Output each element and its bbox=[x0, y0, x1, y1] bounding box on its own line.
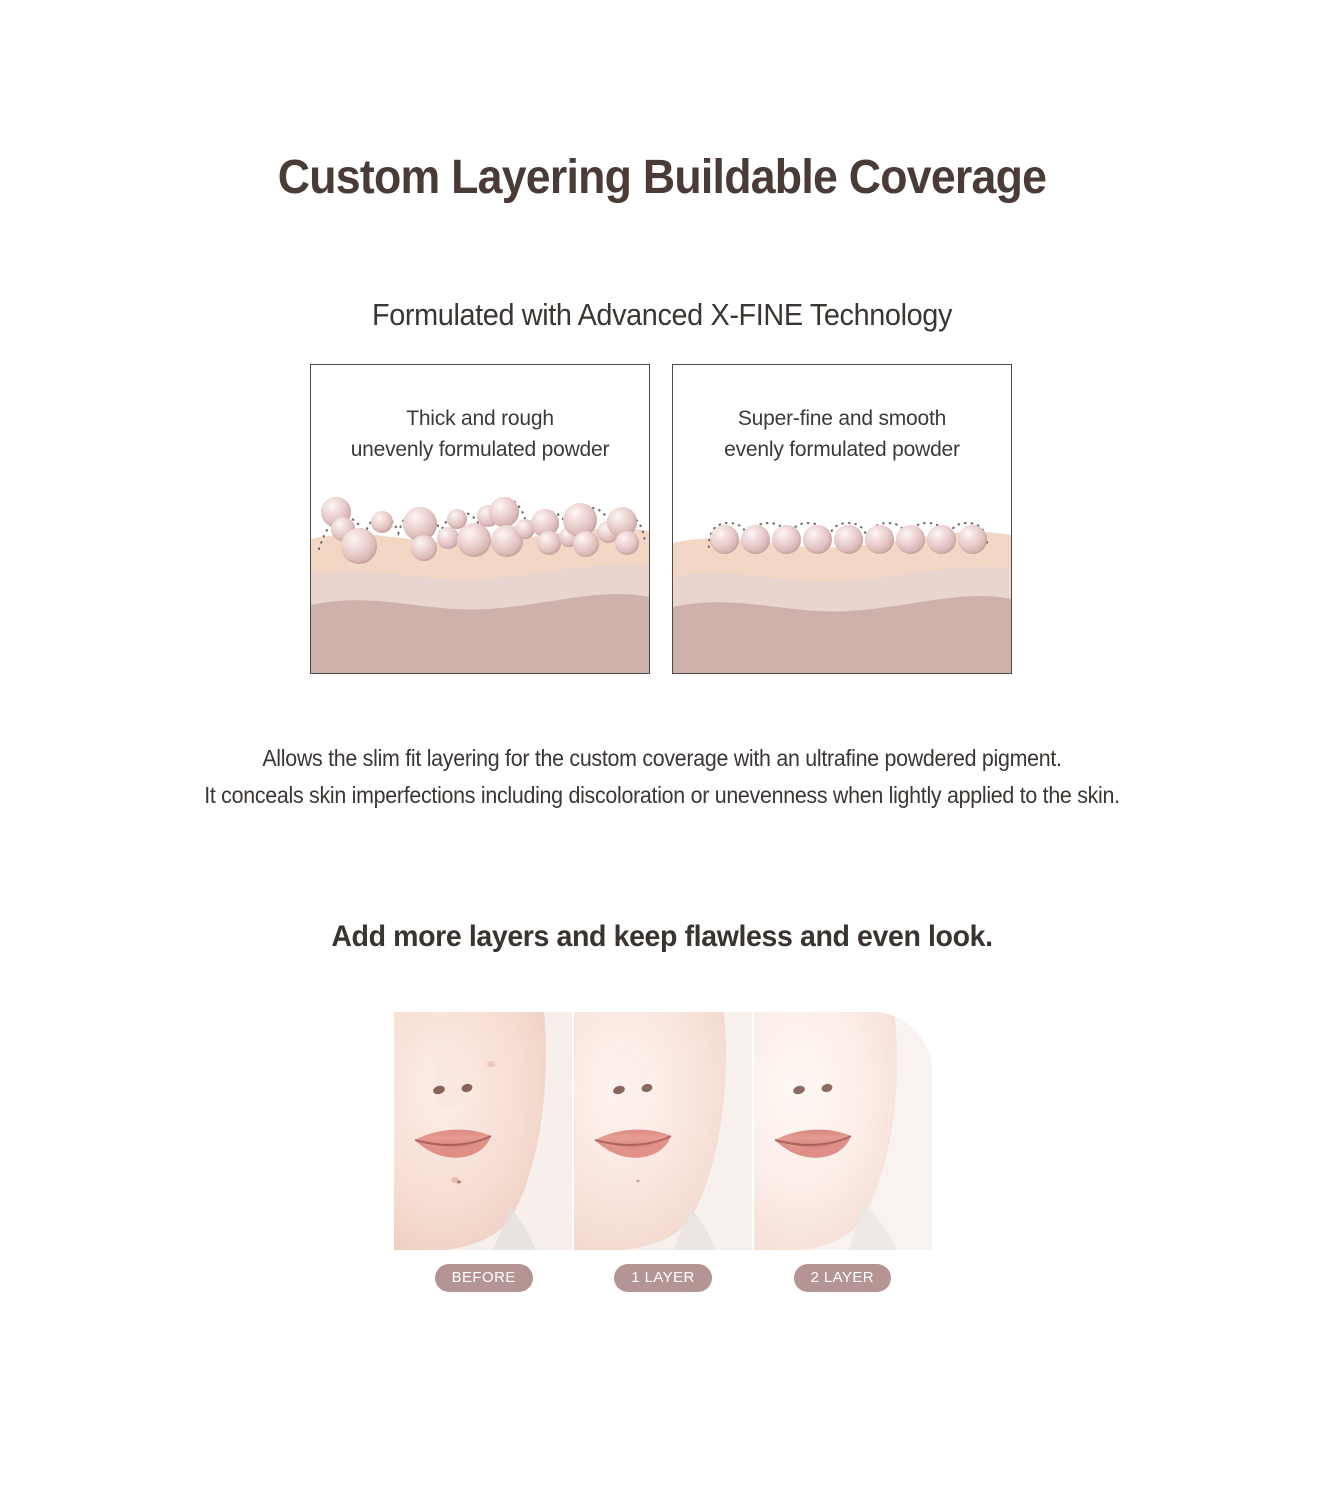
page-title: Custom Layering Buildable Coverage bbox=[46, 150, 1277, 205]
powder-particles-even bbox=[673, 475, 1011, 565]
box-caption-line1: Thick and rough bbox=[311, 403, 649, 434]
photo-label-row: BEFORE 1 LAYER 2 LAYER bbox=[394, 1263, 932, 1293]
label-cell-1layer: 1 LAYER bbox=[573, 1263, 752, 1293]
powder-particle bbox=[865, 525, 894, 554]
before-after-photo-strip bbox=[394, 1012, 932, 1250]
powder-particle bbox=[772, 525, 801, 554]
box-caption-uneven: Thick and rough unevenly formulated powd… bbox=[311, 403, 649, 465]
powder-particle bbox=[927, 525, 956, 554]
section-heading-layers: Add more layers and keep flawless and ev… bbox=[33, 920, 1291, 954]
box-caption-line2: unevenly formulated powder bbox=[311, 434, 649, 465]
comparison-diagram: Thick and rough unevenly formulated powd… bbox=[310, 364, 1014, 676]
powder-particle bbox=[411, 535, 437, 561]
powder-particle bbox=[457, 523, 491, 557]
face-photo-1layer-icon bbox=[574, 1012, 752, 1250]
powder-particle bbox=[710, 525, 739, 554]
label-cell-2layer: 2 LAYER bbox=[753, 1263, 932, 1293]
body-line-1: Allows the slim fit layering for the cus… bbox=[46, 740, 1277, 777]
face-photo-2layer-icon bbox=[754, 1012, 932, 1250]
photo-1-layer bbox=[572, 1012, 752, 1250]
photo-before bbox=[394, 1012, 572, 1250]
comparison-box-uneven: Thick and rough unevenly formulated powd… bbox=[310, 364, 650, 674]
powder-particle bbox=[371, 511, 393, 533]
page-subtitle: Formulated with Advanced X-FINE Technolo… bbox=[46, 297, 1277, 333]
powder-particle bbox=[537, 531, 561, 555]
box-caption-line1: Super-fine and smooth bbox=[673, 403, 1011, 434]
label-pill-1-layer: 1 LAYER bbox=[614, 1264, 711, 1292]
powder-particle bbox=[489, 497, 519, 527]
box-caption-even: Super-fine and smooth evenly formulated … bbox=[673, 403, 1011, 465]
photo-2-layer bbox=[752, 1012, 932, 1250]
powder-particle bbox=[803, 525, 832, 554]
label-cell-before: BEFORE bbox=[394, 1263, 573, 1293]
label-pill-before: BEFORE bbox=[435, 1264, 533, 1292]
powder-particle bbox=[958, 525, 987, 554]
powder-particle bbox=[741, 525, 770, 554]
body-line-2: It conceals skin imperfections including… bbox=[46, 777, 1277, 814]
powder-particle bbox=[341, 528, 377, 564]
powder-particles-uneven bbox=[311, 475, 649, 565]
powder-particle bbox=[573, 531, 599, 557]
powder-particle bbox=[437, 527, 459, 549]
body-paragraph: Allows the slim fit layering for the cus… bbox=[46, 740, 1277, 814]
comparison-box-even: Super-fine and smooth evenly formulated … bbox=[672, 364, 1012, 674]
box-caption-line2: evenly formulated powder bbox=[673, 434, 1011, 465]
powder-particle bbox=[615, 531, 639, 555]
face-photo-before-icon bbox=[394, 1012, 572, 1250]
powder-particle bbox=[896, 525, 925, 554]
label-pill-2-layer: 2 LAYER bbox=[794, 1264, 891, 1292]
powder-particle bbox=[834, 525, 863, 554]
